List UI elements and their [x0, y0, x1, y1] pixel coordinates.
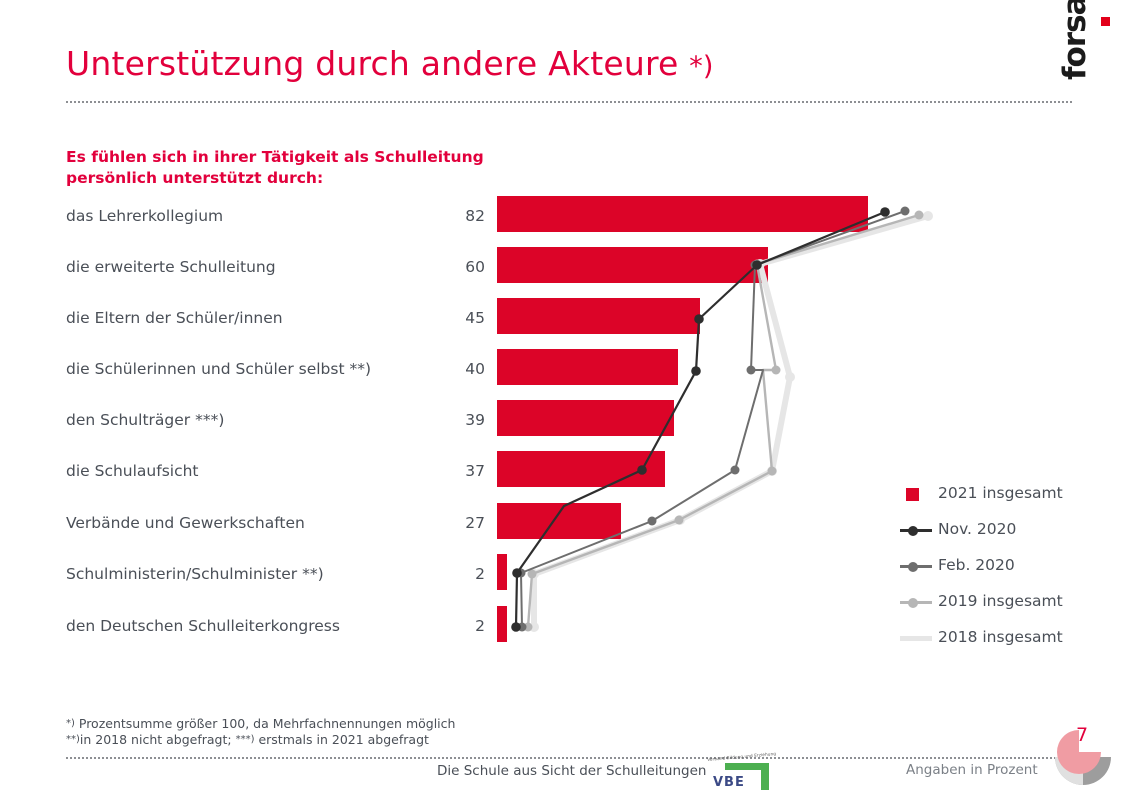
legend-swatch-dot-icon: [908, 526, 918, 536]
category-label-3: die Schülerinnen und Schüler selbst **): [66, 360, 446, 378]
value-label-1: 60: [441, 258, 485, 276]
category-label-4: den Schulträger ***): [66, 411, 446, 429]
footnotes: *) Prozentsumme größer 100, da Mehrfachn…: [66, 716, 666, 748]
bar-4: [497, 400, 674, 436]
legend-swatch-dot-icon: [908, 598, 918, 608]
value-label-4: 39: [441, 411, 485, 429]
legend-item-2019[interactable]: 2019 insgesamt: [900, 592, 1130, 628]
value-label-8: 2: [441, 617, 485, 635]
category-label-6: Verbände und Gewerkschaften: [66, 514, 446, 532]
legend-item-2018[interactable]: 2018 insgesamt: [900, 628, 1130, 664]
line-series-overlay: [0, 0, 1138, 791]
legend-swatch-dot-icon: [908, 562, 918, 572]
value-label-2: 45: [441, 309, 485, 327]
vbe-logo: Verband Bildung und Erziehung VBE: [707, 757, 779, 791]
bar-7: [497, 554, 507, 590]
legend-swatch-line-icon: [900, 636, 932, 641]
value-label-7: 2: [441, 565, 485, 583]
legend-label-4: 2018 insgesamt: [938, 628, 1063, 646]
value-label-5: 37: [441, 462, 485, 480]
category-label-8: den Deutschen Schulleiterkongress: [66, 617, 446, 635]
legend-item-feb-2020[interactable]: Feb. 2020: [900, 556, 1130, 592]
bar-8: [497, 606, 507, 642]
footnote-marker-2: **): [66, 734, 80, 745]
footnote-text-2a: in 2018 nicht abgefragt;: [80, 732, 236, 747]
vbe-logo-text: VBE: [713, 775, 745, 790]
footnote-marker-3: ***): [236, 734, 255, 745]
legend-label-2: Feb. 2020: [938, 556, 1015, 574]
bar-5: [497, 451, 665, 487]
legend-item-2021[interactable]: 2021 insgesamt: [900, 484, 1130, 520]
slide: forsa Unterstützung durch andere Akteure…: [0, 0, 1138, 791]
legend-label-0: 2021 insgesamt: [938, 484, 1063, 502]
category-label-2: die Eltern der Schüler/innen: [66, 309, 446, 327]
footnote-text-1: Prozentsumme größer 100, da Mehrfachnenn…: [75, 716, 456, 731]
footer-right-text: Angaben in Prozent: [906, 762, 1038, 778]
bar-1: [497, 247, 768, 283]
bar-0: [497, 196, 868, 232]
footnote-text-2b: erstmals in 2021 abgefragt: [254, 732, 428, 747]
category-label-5: die Schulaufsicht: [66, 462, 446, 480]
legend-label-1: Nov. 2020: [938, 520, 1016, 538]
category-label-0: das Lehrerkollegium: [66, 207, 446, 225]
page-number: 7: [1076, 724, 1088, 746]
legend-swatch-box-icon: [906, 488, 919, 501]
value-label-3: 40: [441, 360, 485, 378]
bar-3: [497, 349, 678, 385]
value-label-6: 27: [441, 514, 485, 532]
footer-left-text: Die Schule aus Sicht der Schulleitungen: [437, 763, 706, 779]
value-label-0: 82: [441, 207, 485, 225]
legend-item-nov-2020[interactable]: Nov. 2020: [900, 520, 1130, 556]
footnote-line-2: **)in 2018 nicht abgefragt; ***) erstmal…: [66, 732, 666, 748]
bar-6: [497, 503, 621, 539]
bar-2: [497, 298, 700, 334]
legend-label-3: 2019 insgesamt: [938, 592, 1063, 610]
divider-bottom: [66, 757, 1072, 759]
bar-chart: das Lehrerkollegium 82 die erweiterte Sc…: [0, 0, 1138, 791]
category-label-1: die erweiterte Schulleitung: [66, 258, 446, 276]
chart-legend: 2021 insgesamt Nov. 2020 Feb. 2020 2019 …: [900, 484, 1130, 664]
footnote-line-1: *) Prozentsumme größer 100, da Mehrfachn…: [66, 716, 666, 732]
footnote-marker-1: *): [66, 718, 75, 729]
category-label-7: Schulministerin/Schulminister **): [66, 565, 446, 583]
